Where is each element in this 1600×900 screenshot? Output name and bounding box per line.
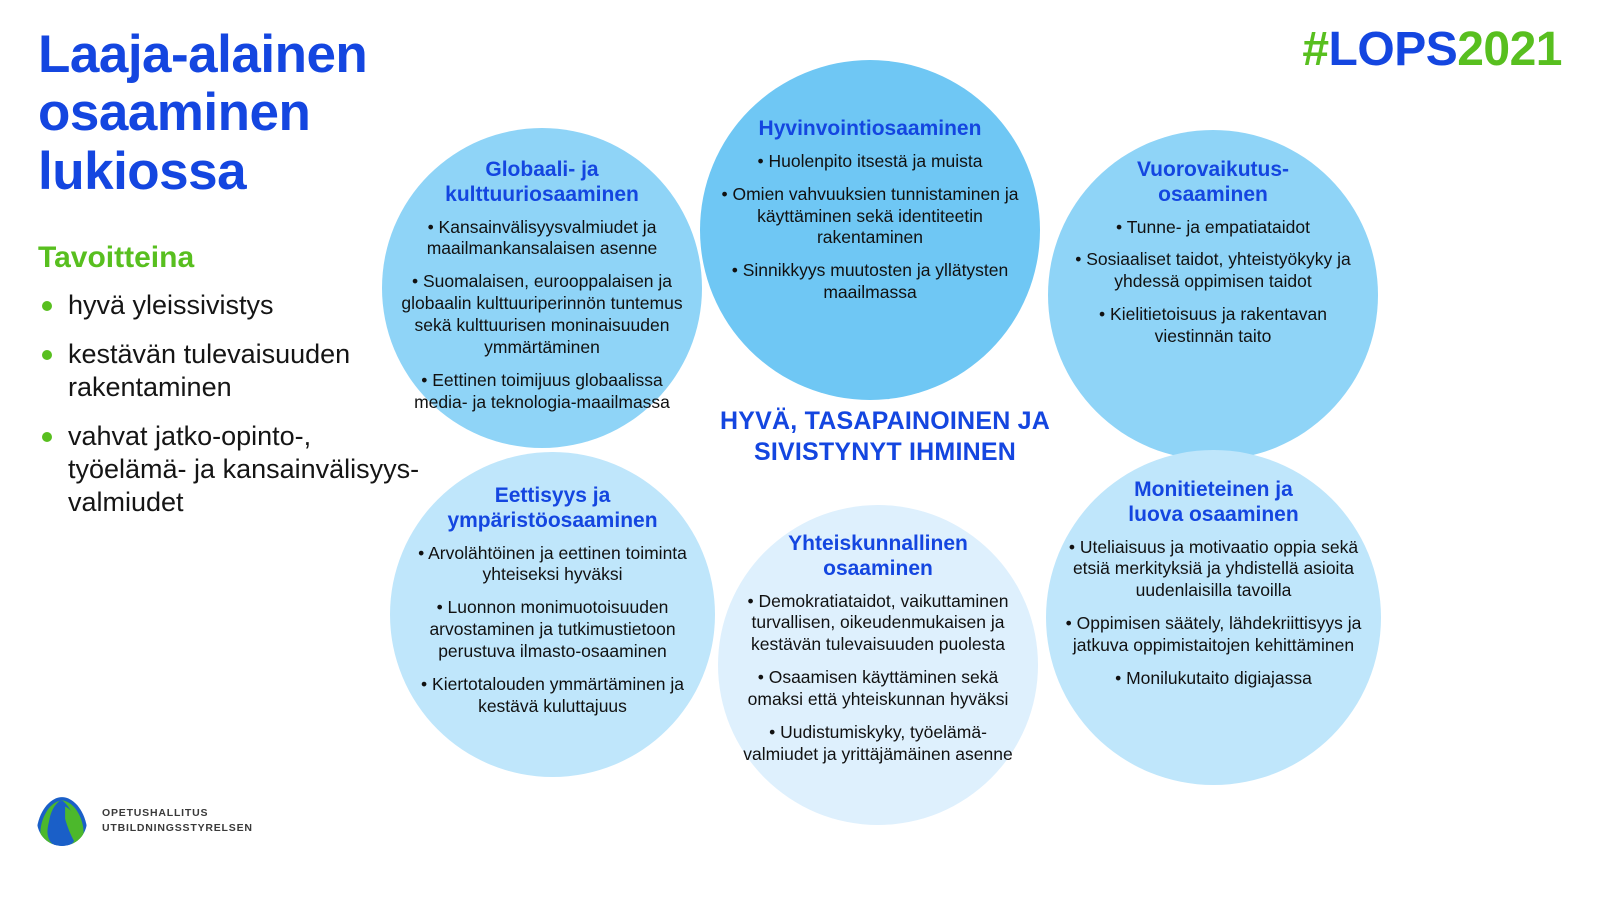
goals-list-item: vahvat jatko-opinto-, työelämä- ja kansa… (38, 420, 428, 519)
bubble-list-item: • Sinnikkyys muutosten ja yllätysten maa… (714, 260, 1026, 304)
bubble-title-line-1: Globaali- ja (485, 158, 598, 181)
center-statement-line-2: SIVISTYNYT IHMINEN (660, 437, 1110, 468)
opetushallitus-logo-block: OPETUSHALLITUS UTBILDNINGSSTYRELSEN (36, 795, 253, 847)
bubble-title-line-2: luova osaaminen (1128, 503, 1298, 526)
page-title-line-3: lukiossa (38, 143, 428, 201)
bubble-list-item: • Kiertotalouden ymmärtäminen ja kestävä… (404, 674, 701, 718)
center-statement-line-1: HYVÄ, TASAPAINOINEN JA (660, 406, 1110, 437)
bubble-list: • Demokratiataidot, vaikuttaminen turval… (732, 591, 1024, 766)
goals-list-item: kestävän tulevaisuuden rakentaminen (38, 338, 428, 404)
bubble-list-item: • Monilukutaito digiajassa (1060, 668, 1367, 690)
bubble-list-item: • Omien vahvuuksien tunnistaminen ja käy… (714, 184, 1026, 250)
bubble-yhteiskunnallinen-osaaminen: Yhteiskunnallinen osaaminen • Demokratia… (718, 505, 1038, 825)
bubble-title-line-2: ympäristöosaaminen (447, 509, 657, 532)
bubble-eettisyys-ja-ymparistoosaaminen: Eettisyys ja ympäristöosaaminen • Arvolä… (390, 452, 715, 777)
hashtag-symbol: # (1302, 23, 1328, 76)
opetushallitus-logo-icon (36, 795, 88, 847)
logo-text-sv: UTBILDNINGSSTYRELSEN (102, 821, 253, 836)
bubble-title-line-1: Eettisyys ja (495, 484, 611, 507)
bubble-list: • Tunne- ja empatiataidot • Sosiaaliset … (1062, 217, 1364, 348)
bubble-list: • Arvolähtöinen ja eettinen toiminta yht… (404, 543, 701, 718)
center-statement: HYVÄ, TASAPAINOINEN JA SIVISTYNYT IHMINE… (660, 406, 1110, 469)
bubble-list-item: • Huolenpito itsestä ja muista (714, 151, 1026, 173)
bubble-list-item: • Arvolähtöinen ja eettinen toiminta yht… (404, 543, 701, 587)
bubble-list-item: • Kielitietoisuus ja rakentavan viestinn… (1062, 304, 1364, 348)
bubble-list-item: • Kansainvälisyysvalmiudet ja maailmanka… (396, 217, 688, 261)
bubble-title-line-2: kulttuuriosaaminen (445, 183, 639, 206)
bubble-list: • Huolenpito itsestä ja muista • Omien v… (714, 151, 1026, 304)
bubble-globaali-ja-kulttuuriosaaminen: Globaali- ja kulttuuriosaaminen • Kansai… (382, 128, 702, 448)
bubble-title-line-2: osaaminen (823, 557, 933, 580)
bubble-hyvinvointiosaaminen: Hyvinvointiosaaminen • Huolenpito itsest… (700, 60, 1040, 400)
bubble-list-item: • Uteliaisuus ja motivaatio oppia sekä e… (1060, 537, 1367, 603)
bubble-monitieteinen-ja-luova-osaaminen: Monitieteinen ja luova osaaminen • Uteli… (1046, 450, 1381, 785)
bubble-list-item: • Eettinen toimijuus globaalissa media- … (396, 370, 688, 414)
hashtag-year: 2021 (1457, 23, 1562, 76)
goals-list-item: hyvä yleissivistys (38, 289, 428, 322)
bubble-title-line-1: Vuorovaikutus- (1137, 158, 1289, 181)
bubble-list: • Uteliaisuus ja motivaatio oppia sekä e… (1060, 537, 1367, 690)
page-title: Laaja-alainen osaaminen lukiossa (38, 26, 428, 201)
logo-text-fi: OPETUSHALLITUS (102, 806, 253, 821)
bubble-title: Yhteiskunnallinen osaaminen (788, 532, 968, 582)
bubble-list-item: • Sosiaaliset taidot, yhteistyökyky ja y… (1062, 249, 1364, 293)
goals-heading: Tavoitteina (38, 241, 428, 275)
hashtag-lops: LOPS (1329, 23, 1458, 76)
bubble-list-item: • Tunne- ja empatiataidot (1062, 217, 1364, 239)
bubble-title-line-1: Yhteiskunnallinen (788, 532, 968, 555)
bubble-title: Hyvinvointiosaaminen (759, 117, 982, 142)
bubble-list: • Kansainvälisyysvalmiudet ja maailmanka… (396, 217, 688, 414)
infographic-canvas: Laaja-alainen osaaminen lukiossa Tavoitt… (0, 0, 1600, 900)
logo-text: OPETUSHALLITUS UTBILDNINGSSTYRELSEN (102, 806, 253, 836)
lops-hashtag: #LOPS2021 (1302, 22, 1562, 77)
bubble-title: Globaali- ja kulttuuriosaaminen (445, 158, 639, 208)
bubble-list-item: • Luonnon monimuotoisuuden arvostaminen … (404, 597, 701, 663)
bubble-list-item: • Osaamisen käyttäminen sekä omaksi että… (732, 667, 1024, 711)
bubble-list-item: • Suomalaisen, eurooppalaisen ja globaal… (396, 271, 688, 359)
bubble-list-item: • Uudistumiskyky, työelämä-valmiudet ja … (732, 722, 1024, 766)
page-title-line-1: Laaja-alainen (38, 26, 428, 84)
goals-list: hyvä yleissivistys kestävän tulevaisuude… (38, 289, 428, 519)
bubble-title-line-2: osaaminen (1158, 183, 1268, 206)
page-title-line-2: osaaminen (38, 84, 428, 142)
bubble-list-item: • Demokratiataidot, vaikuttaminen turval… (732, 591, 1024, 657)
bubble-title-line-1: Hyvinvointiosaaminen (759, 117, 982, 140)
bubble-title: Vuorovaikutus- osaaminen (1137, 158, 1289, 208)
bubble-title: Eettisyys ja ympäristöosaaminen (447, 484, 657, 534)
left-column: Laaja-alainen osaaminen lukiossa Tavoitt… (38, 26, 428, 535)
bubble-title: Monitieteinen ja luova osaaminen (1128, 478, 1298, 528)
bubble-list-item: • Oppimisen säätely, lähdekriittisyys ja… (1060, 613, 1367, 657)
bubble-title-line-1: Monitieteinen ja (1134, 478, 1293, 501)
